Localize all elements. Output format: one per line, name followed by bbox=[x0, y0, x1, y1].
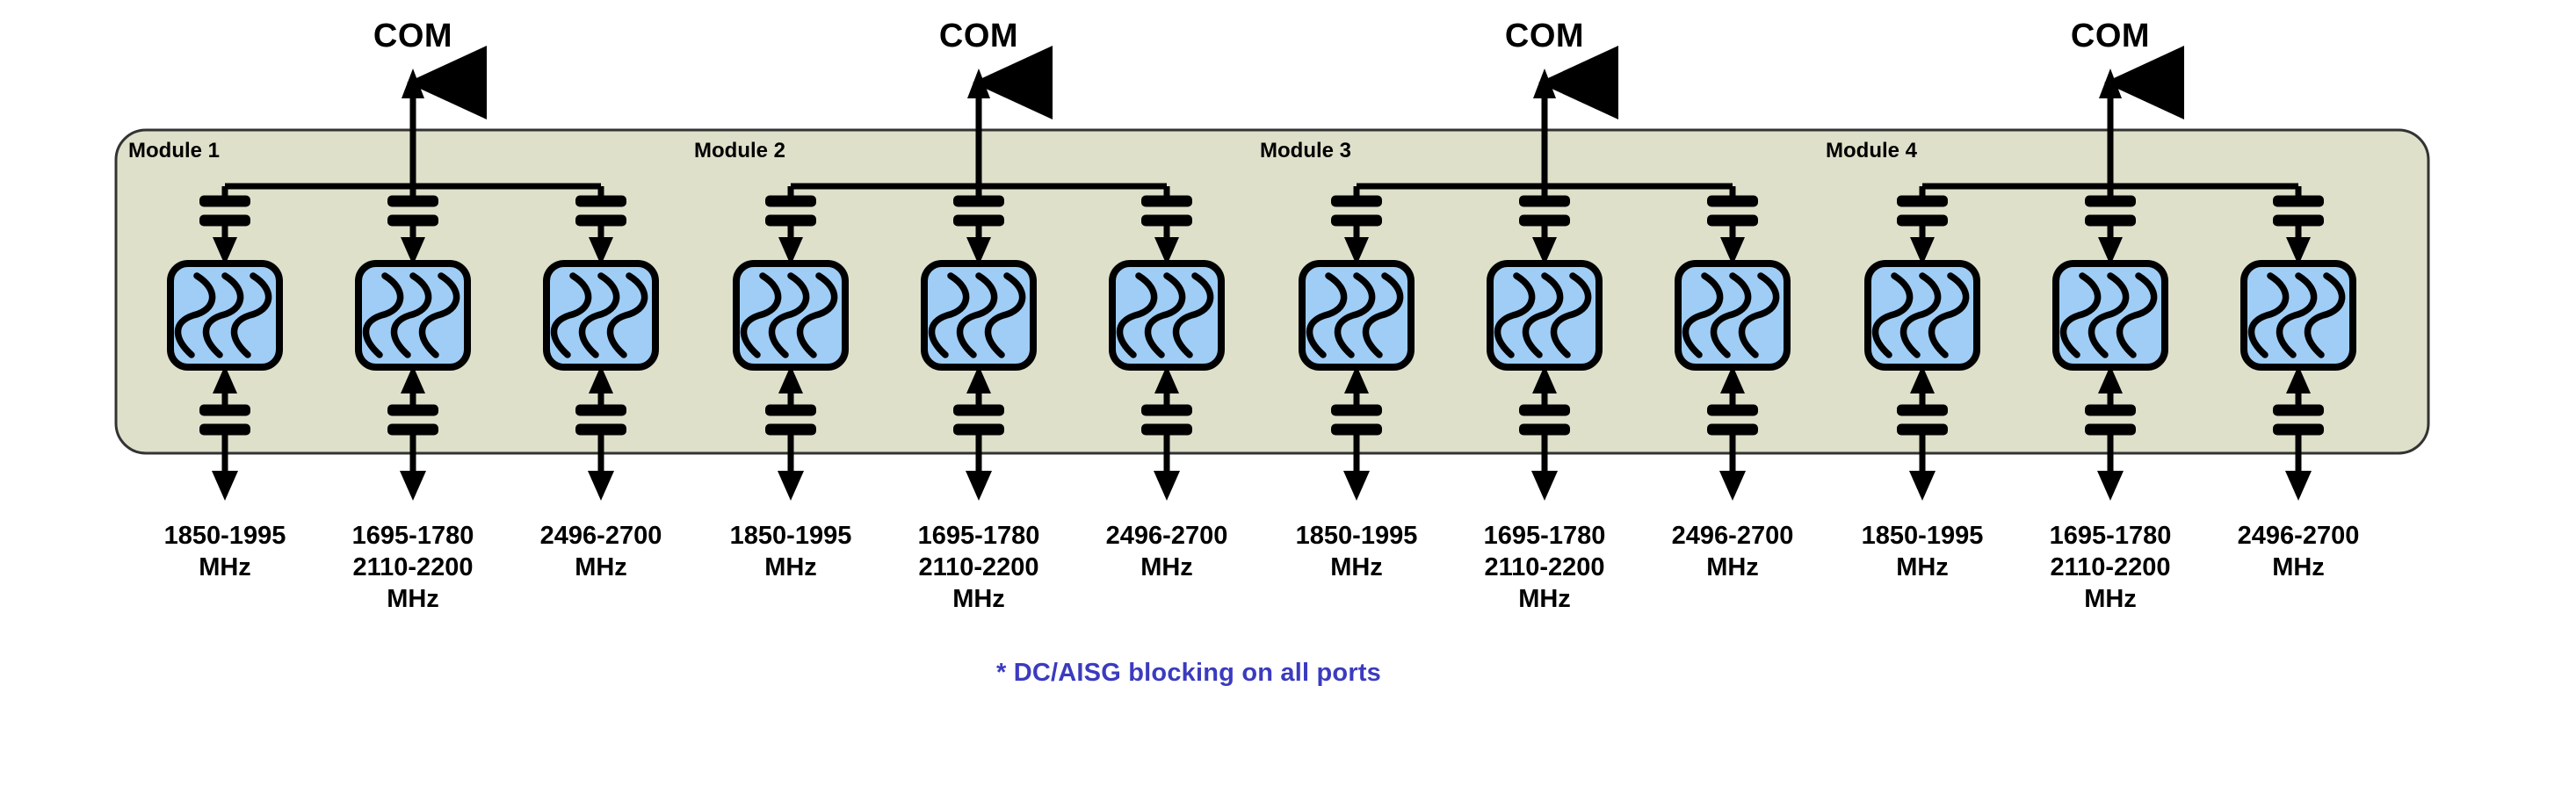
bandpass-filter-3-2[interactable] bbox=[1490, 263, 1599, 367]
port-arrow-2-2 bbox=[966, 471, 992, 501]
com-arrow-3 bbox=[1533, 69, 1556, 98]
port-band-line-4-2-1: 1695-1780 bbox=[2050, 520, 2172, 552]
bandpass-filter-1-1[interactable] bbox=[170, 263, 279, 367]
port-band-line-3-1-1: 1850-1995 bbox=[1296, 520, 1418, 552]
port-band-line-2-2-2: 2110-2200 bbox=[918, 552, 1040, 583]
footnote-dc-aisg-blocking: * DC/AISG blocking on all ports bbox=[996, 659, 1381, 688]
com-label-3: COM bbox=[1505, 18, 1584, 55]
port-band-line-2-1-2: MHz bbox=[730, 552, 852, 583]
port-band-line-2-1-1: 1850-1995 bbox=[730, 520, 852, 552]
com-label-2: COM bbox=[939, 18, 1018, 55]
port-band-label-3-2: 1695-17802110-2200MHz bbox=[1484, 520, 1606, 615]
bandpass-filter-3-1[interactable] bbox=[1302, 263, 1411, 367]
port-arrow-3-3 bbox=[1719, 471, 1746, 501]
port-arrow-1-2 bbox=[400, 471, 426, 501]
bandpass-filter-2-3[interactable] bbox=[1112, 263, 1221, 367]
port-band-line-3-3-1: 2496-2700 bbox=[1672, 520, 1794, 552]
bandpass-filter-1-2[interactable] bbox=[358, 263, 467, 367]
bandpass-filter-3-3[interactable] bbox=[1678, 263, 1787, 367]
port-band-line-2-2-1: 1695-1780 bbox=[918, 520, 1040, 552]
com-arrow-1 bbox=[402, 69, 424, 98]
port-arrow-1-1 bbox=[212, 471, 238, 501]
port-band-line-2-3-2: MHz bbox=[1106, 552, 1228, 583]
bandpass-filter-2-1[interactable] bbox=[736, 263, 845, 367]
port-band-line-2-2-3: MHz bbox=[918, 583, 1040, 615]
com-arrow-4 bbox=[2099, 69, 2122, 98]
port-arrow-2-3 bbox=[1154, 471, 1180, 501]
port-band-line-3-2-3: MHz bbox=[1484, 583, 1606, 615]
port-band-line-3-3-2: MHz bbox=[1672, 552, 1794, 583]
port-arrow-4-2 bbox=[2097, 471, 2124, 501]
port-band-line-4-1-2: MHz bbox=[1862, 552, 1984, 583]
bandpass-filter-4-1[interactable] bbox=[1868, 263, 1977, 367]
port-band-label-2-2: 1695-17802110-2200MHz bbox=[918, 520, 1040, 615]
port-band-line-3-2-1: 1695-1780 bbox=[1484, 520, 1606, 552]
port-arrow-4-1 bbox=[1909, 471, 1936, 501]
port-band-label-2-1: 1850-1995MHz bbox=[730, 520, 852, 583]
bandpass-filter-4-3[interactable] bbox=[2244, 263, 2353, 367]
module-label-3: Module 3 bbox=[1260, 139, 1351, 163]
module-label-1: Module 1 bbox=[128, 139, 220, 163]
port-band-label-3-1: 1850-1995MHz bbox=[1296, 520, 1418, 583]
port-band-line-1-3-1: 2496-2700 bbox=[540, 520, 662, 552]
port-band-label-4-2: 1695-17802110-2200MHz bbox=[2050, 520, 2172, 615]
com-label-1: COM bbox=[373, 18, 452, 55]
port-band-line-4-2-3: MHz bbox=[2050, 583, 2172, 615]
port-band-line-3-1-2: MHz bbox=[1296, 552, 1418, 583]
module-label-4: Module 4 bbox=[1826, 139, 1917, 163]
port-band-line-1-1-2: MHz bbox=[164, 552, 286, 583]
port-arrow-1-3 bbox=[588, 471, 614, 501]
port-arrow-3-1 bbox=[1343, 471, 1370, 501]
port-band-line-2-3-1: 2496-2700 bbox=[1106, 520, 1228, 552]
port-band-line-4-3-1: 2496-2700 bbox=[2238, 520, 2360, 552]
port-band-line-1-2-2: 2110-2200 bbox=[352, 552, 474, 583]
port-band-line-4-3-2: MHz bbox=[2238, 552, 2360, 583]
bandpass-filter-1-3[interactable] bbox=[546, 263, 655, 367]
port-arrow-2-1 bbox=[778, 471, 804, 501]
port-band-label-3-3: 2496-2700MHz bbox=[1672, 520, 1794, 583]
port-arrow-3-2 bbox=[1531, 471, 1558, 501]
com-arrow-2 bbox=[967, 69, 990, 98]
port-band-label-1-2: 1695-17802110-2200MHz bbox=[352, 520, 474, 615]
bandpass-filter-4-2[interactable] bbox=[2056, 263, 2165, 367]
port-band-line-1-1-1: 1850-1995 bbox=[164, 520, 286, 552]
port-band-line-4-2-2: 2110-2200 bbox=[2050, 552, 2172, 583]
port-arrow-4-3 bbox=[2285, 471, 2312, 501]
port-band-line-4-1-1: 1850-1995 bbox=[1862, 520, 1984, 552]
port-band-label-4-3: 2496-2700MHz bbox=[2238, 520, 2360, 583]
port-band-label-1-1: 1850-1995MHz bbox=[164, 520, 286, 583]
port-band-label-1-3: 2496-2700MHz bbox=[540, 520, 662, 583]
module-label-2: Module 2 bbox=[694, 139, 785, 163]
diagram-canvas: Module 1COM1850-1995MHz1695-17802110-220… bbox=[0, 0, 2576, 794]
port-band-label-2-3: 2496-2700MHz bbox=[1106, 520, 1228, 583]
port-band-label-4-1: 1850-1995MHz bbox=[1862, 520, 1984, 583]
bandpass-filter-2-2[interactable] bbox=[924, 263, 1033, 367]
port-band-line-1-2-1: 1695-1780 bbox=[352, 520, 474, 552]
port-band-line-3-2-2: 2110-2200 bbox=[1484, 552, 1606, 583]
com-label-4: COM bbox=[2071, 18, 2150, 55]
port-band-line-1-2-3: MHz bbox=[352, 583, 474, 615]
port-band-line-1-3-2: MHz bbox=[540, 552, 662, 583]
